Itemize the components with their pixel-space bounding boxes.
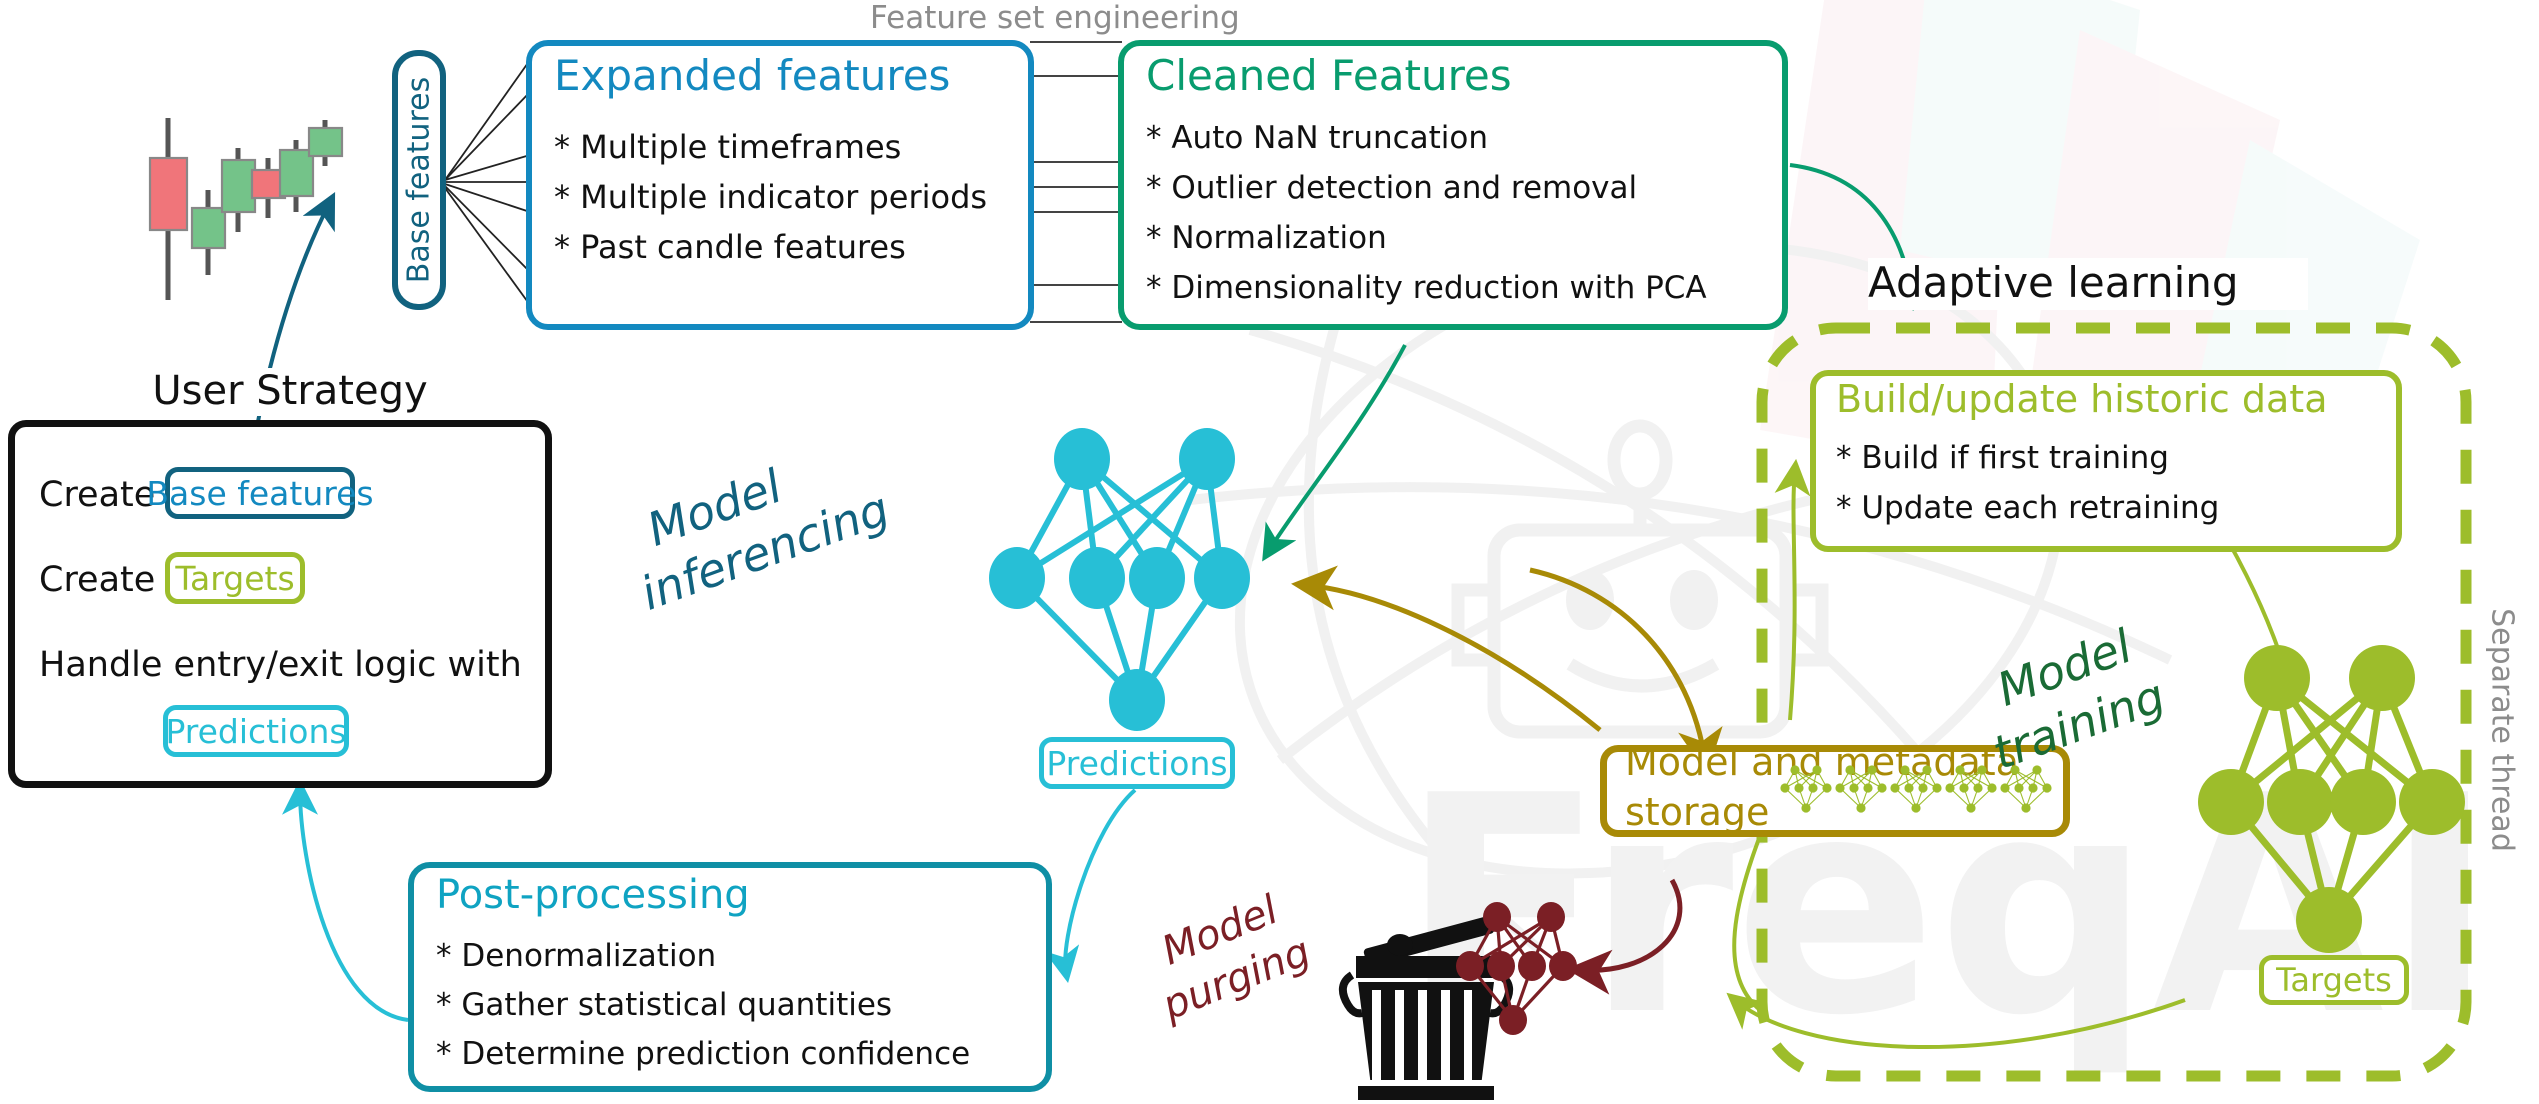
diagram-canvas: FreqAI: [0, 0, 2539, 1104]
separate-thread-label: Separate thread: [2487, 580, 2517, 880]
separate-thread-text: Separate thread: [2485, 608, 2520, 852]
targets-tag-label: Targets: [2276, 961, 2392, 999]
targets-tag[interactable]: Targets: [2259, 955, 2409, 1005]
neural-network-icon-training: [0, 0, 2539, 1104]
